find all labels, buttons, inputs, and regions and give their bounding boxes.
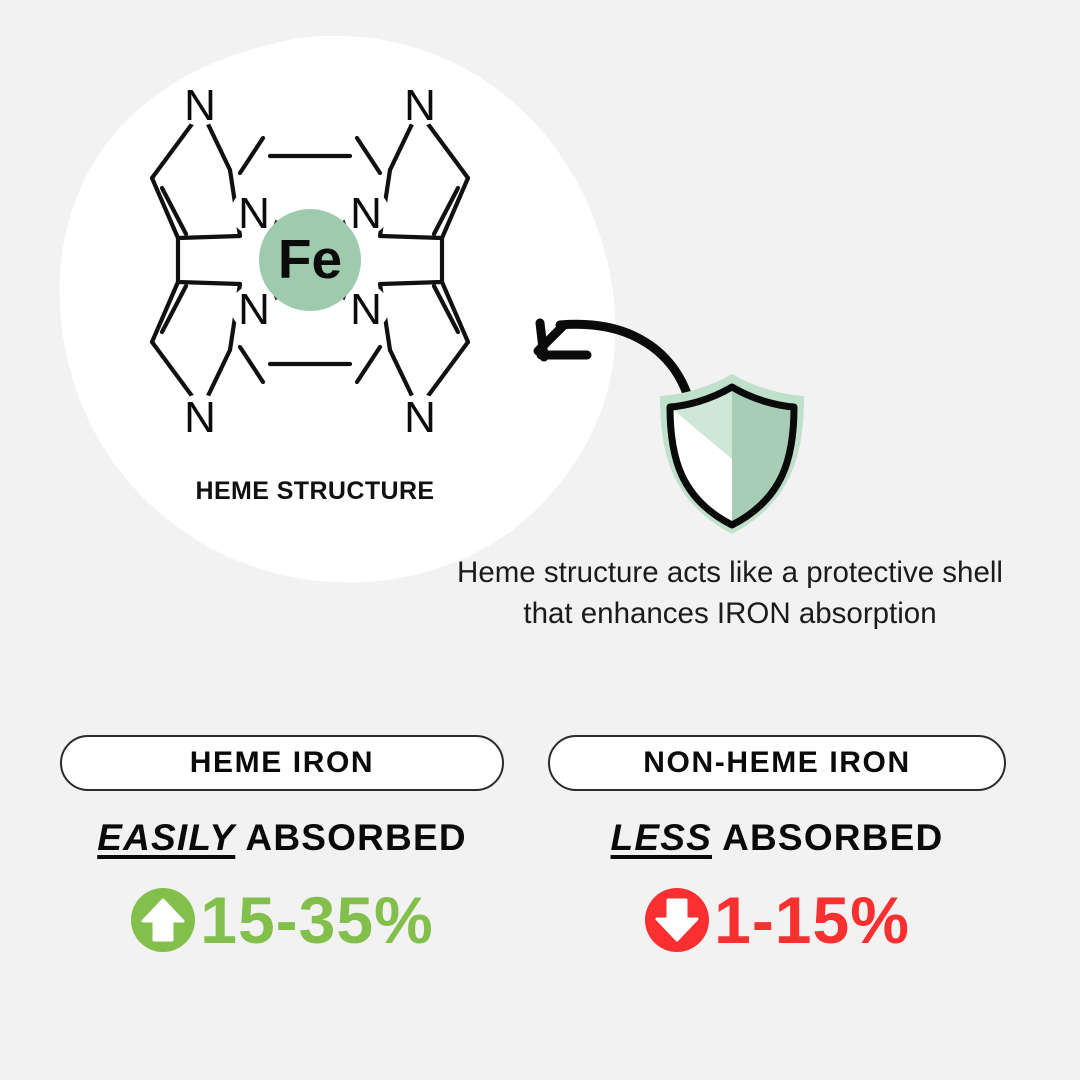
arrow-up-circle-icon <box>130 887 196 953</box>
heme-structure-caption: HEME STRUCTURE <box>0 477 630 506</box>
shield-icon <box>648 368 816 540</box>
heme-iron-absorbed-word: ABSORBED <box>245 817 466 858</box>
nitrogen-label: N <box>350 285 382 334</box>
heme-iron-absorption-label: EASILY ABSORBED <box>60 817 504 859</box>
nitrogen-label: N <box>350 189 382 238</box>
heme-iron-pill[interactable]: HEME IRON <box>60 735 504 791</box>
arrow-down-circle-icon <box>644 887 710 953</box>
non-heme-iron-absorption-label: LESS ABSORBED <box>548 817 1006 859</box>
heme-iron-percent-value: 15-35% <box>200 887 434 953</box>
nitrogen-label: N <box>404 81 436 130</box>
nitrogen-label: N <box>184 81 216 130</box>
absorption-comparison: HEME IRON EASILY ABSORBED 15-35% NON-HEM… <box>0 735 1080 1080</box>
nitrogen-label: N <box>238 189 270 238</box>
non-heme-iron-percent-value: 1-15% <box>714 887 910 953</box>
nitrogen-label: N <box>184 393 216 442</box>
nitrogen-label: N <box>238 285 270 334</box>
nitrogen-label: N <box>404 393 436 442</box>
heme-iron-emphasis: EASILY <box>97 817 235 858</box>
non-heme-iron-pill[interactable]: NON-HEME IRON <box>548 735 1006 791</box>
hero-illustration: Fe N N N N N N N N HEME STRUCTUR <box>0 0 1080 680</box>
non-heme-iron-absorbed-word: ABSORBED <box>722 817 943 858</box>
heme-iron-percent-row: 15-35% <box>60 887 504 953</box>
comparison-column-non-heme-iron: NON-HEME IRON LESS ABSORBED 1-15% <box>548 735 1018 953</box>
infographic-page: Fe N N N N N N N N HEME STRUCTUR <box>0 0 1080 1080</box>
non-heme-iron-emphasis: LESS <box>611 817 712 858</box>
fe-symbol-label: Fe <box>278 228 342 290</box>
shield-blurb-text: Heme structure acts like a protective sh… <box>430 553 1030 634</box>
heme-molecule-diagram: Fe N N N N N N N N <box>130 60 490 460</box>
non-heme-iron-percent-row: 1-15% <box>548 887 1006 953</box>
comparison-column-heme-iron: HEME IRON EASILY ABSORBED 15-35% <box>60 735 530 953</box>
